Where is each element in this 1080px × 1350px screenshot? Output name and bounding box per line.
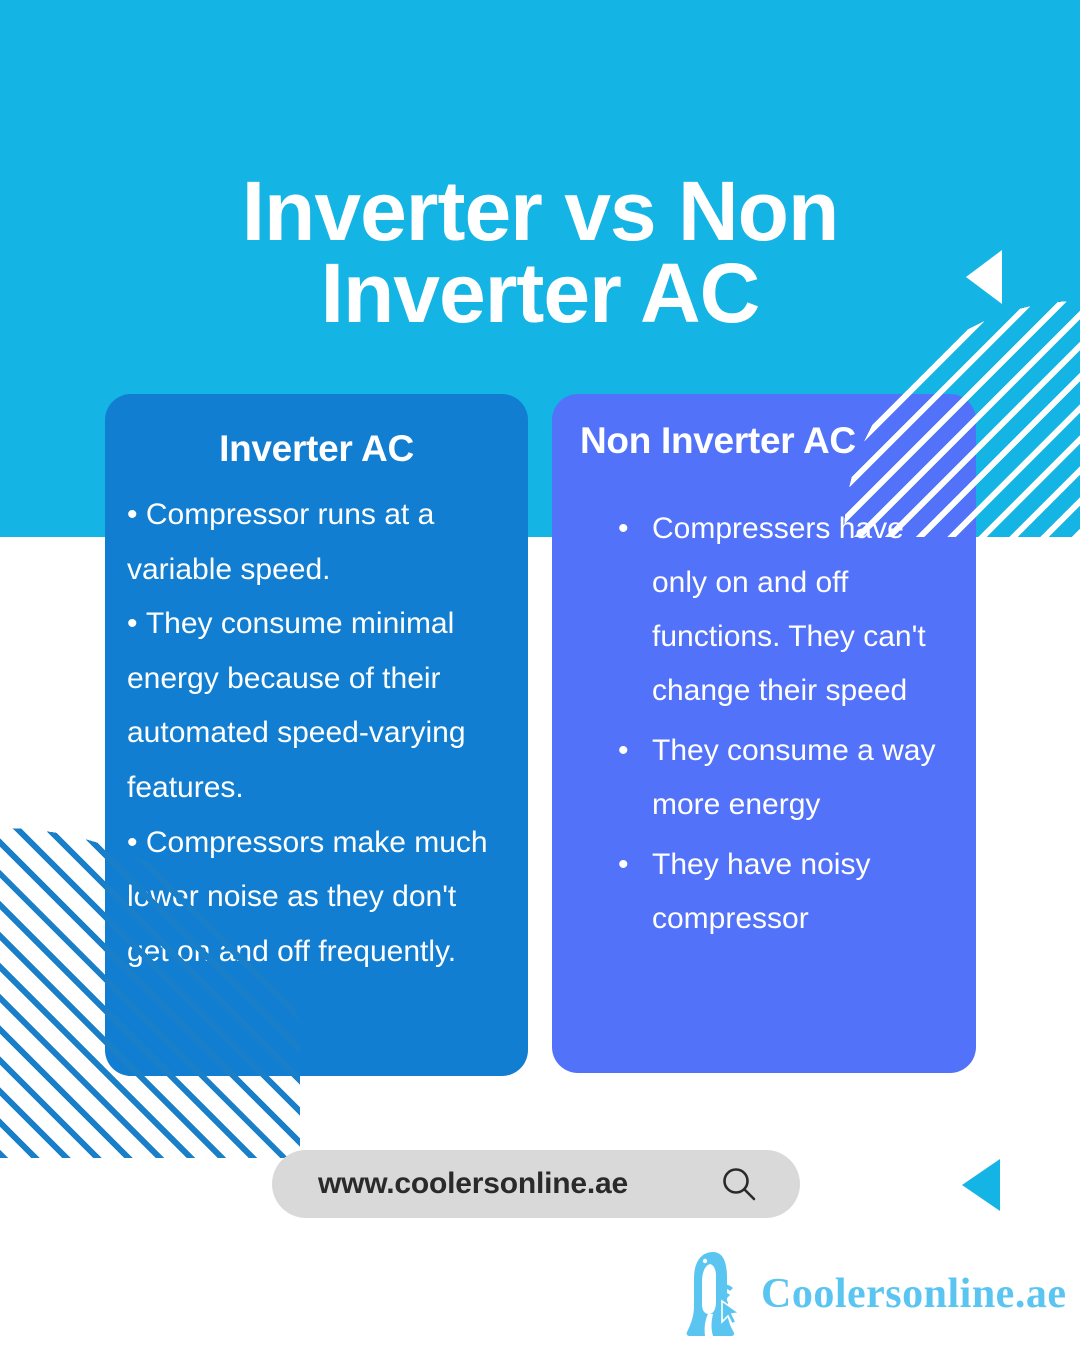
play-triangle-left-icon-footer <box>962 1159 1000 1211</box>
website-url-text: www.coolersonline.ae <box>318 1167 628 1201</box>
list-item: Compressors make much lower noise as the… <box>127 816 506 980</box>
card-right-title: Non Inverter AC <box>580 420 952 462</box>
brand-logo: Coolersonline.ae <box>683 1248 1066 1340</box>
penguin-logo-icon <box>683 1248 753 1340</box>
brand-name-text: Coolersonline.ae <box>761 1270 1066 1318</box>
card-non-inverter-ac: Non Inverter AC Compressers have only on… <box>552 394 976 1073</box>
page-title-line-1: Inverter vs Non <box>110 170 970 252</box>
infographic-canvas: Inverter vs Non Inverter AC Inverter AC … <box>0 0 1080 1350</box>
list-item: Compressor runs at a variable speed. <box>127 488 506 597</box>
page-title: Inverter vs Non Inverter AC <box>0 170 1080 335</box>
play-triangle-left-icon-header <box>966 250 1002 304</box>
list-item: Compressers have only on and off functio… <box>618 502 952 718</box>
list-item: They consume minimal energy because of t… <box>127 597 506 815</box>
card-left-title: Inverter AC <box>127 428 506 470</box>
search-icon[interactable] <box>720 1165 758 1203</box>
card-inverter-ac: Inverter AC Compressor runs at a variabl… <box>105 394 528 1076</box>
list-item: They consume a way more energy <box>618 724 952 832</box>
card-right-bullet-list: Compressers have only on and off functio… <box>580 502 952 946</box>
website-url-pill[interactable]: www.coolersonline.ae <box>272 1150 800 1218</box>
page-title-line-2: Inverter AC <box>110 252 970 334</box>
list-item: They have noisy compressor <box>618 838 952 946</box>
card-left-bullet-list: Compressor runs at a variable speed. The… <box>127 488 506 979</box>
